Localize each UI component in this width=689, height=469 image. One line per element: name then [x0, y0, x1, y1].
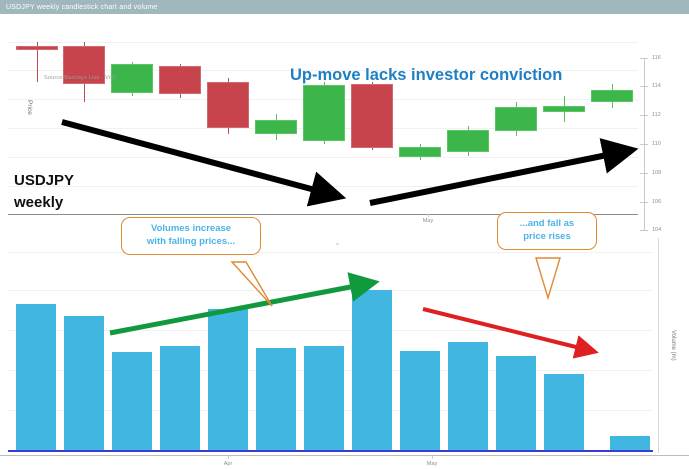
- volume-bar: [208, 309, 248, 452]
- price-gridline: [8, 157, 638, 158]
- candle-body: [495, 107, 537, 131]
- volume-chart-panel: Apr May: [0, 228, 689, 469]
- price-xlabel-may: May: [423, 218, 433, 224]
- price-tick-label: 110: [652, 141, 661, 147]
- candle-3: [111, 62, 153, 96]
- price-axis-tick: [640, 86, 648, 87]
- price-axis-tick: [640, 115, 648, 116]
- slide-headline: Up-move lacks investor conviction: [290, 66, 562, 85]
- volume-bar: [304, 346, 344, 452]
- volume-tiny-marker: =: [336, 242, 339, 248]
- pair-label-line2: weekly: [14, 192, 74, 214]
- volume-bar: [352, 290, 392, 452]
- callout-line2: price rises: [505, 231, 589, 244]
- volume-bar: [400, 351, 440, 452]
- candle-body: [111, 64, 153, 93]
- pair-label: USDJPY weekly: [14, 170, 74, 214]
- volume-gridline: [8, 290, 653, 291]
- candle-13: [591, 84, 633, 108]
- price-axis-tick: [640, 202, 648, 203]
- volume-xlabel-may: May: [427, 461, 437, 467]
- candle-body: [303, 85, 345, 141]
- volume-bar: [16, 304, 56, 452]
- volume-gridline: [8, 330, 653, 331]
- callout-line2: with falling prices...: [129, 236, 253, 249]
- price-xtick: [428, 214, 429, 217]
- candle-body: [351, 84, 393, 148]
- volume-axis-line: [0, 455, 689, 456]
- price-axis-tick: [640, 58, 648, 59]
- candle-body: [591, 90, 633, 102]
- candle-9: [399, 144, 441, 160]
- volume-xlabel-apr: Apr: [224, 461, 233, 467]
- callout-line1: Volumes increase: [129, 223, 253, 236]
- candle-8: [351, 82, 393, 150]
- candle-11: [495, 102, 537, 136]
- slide-canvas: Source:Barclays Live - VolT May 116 114 …: [0, 14, 689, 469]
- price-axis-title: Price: [26, 100, 33, 115]
- source-note: Source:Barclays Live - VolT: [44, 75, 117, 81]
- volume-bar: [112, 352, 152, 452]
- price-tick-label: 112: [652, 112, 661, 118]
- volume-bar: [256, 348, 296, 452]
- slide-headline-text: Up-move lacks investor conviction: [290, 66, 562, 84]
- price-chart-panel: Source:Barclays Live - VolT May 116 114 …: [0, 30, 689, 228]
- price-axis: 116 114 112 110 108 106 104: [640, 58, 689, 230]
- price-tick-label: 108: [652, 170, 661, 176]
- price-axis-tick: [640, 144, 648, 145]
- volume-bar: [448, 342, 488, 452]
- candle-7: [303, 82, 345, 144]
- candle-body: [399, 147, 441, 157]
- candle-5: [207, 78, 249, 134]
- price-gridline: [8, 186, 638, 187]
- volumes-increase-callout: Volumes increase with falling prices...: [121, 217, 261, 255]
- volume-gridline: [8, 252, 653, 253]
- candle-body: [16, 46, 58, 50]
- window-titlebar: USDJPY weekly candlestick chart and volu…: [0, 0, 689, 14]
- volume-axis-vline: [658, 238, 659, 453]
- volume-bar: [496, 356, 536, 452]
- candle-body: [543, 106, 585, 112]
- volume-xtick: [228, 456, 229, 459]
- candle-4: [159, 64, 201, 98]
- candle-2: [63, 42, 105, 102]
- candle-body: [255, 120, 297, 134]
- candle-10: [447, 126, 489, 156]
- price-tick-label: 106: [652, 199, 661, 205]
- volume-bar: [160, 346, 200, 452]
- volume-axis-title: Volume (m): [670, 330, 676, 361]
- candle-body: [159, 66, 201, 94]
- volumes-fall-callout: ...and fall as price rises: [497, 212, 597, 250]
- candle-body: [447, 130, 489, 152]
- callout-line1: ...and fall as: [505, 218, 589, 231]
- window-title: USDJPY weekly candlestick chart and volu…: [0, 4, 157, 11]
- candle-body: [207, 82, 249, 128]
- volume-bar: [544, 374, 584, 452]
- pair-label-line1: USDJPY: [14, 170, 74, 192]
- candle-12: [543, 96, 585, 122]
- volume-xtick: [432, 456, 433, 459]
- price-tick-label: 116: [652, 55, 661, 61]
- volume-bar: [64, 316, 104, 452]
- volume-baseline: [8, 450, 653, 452]
- price-axis-tick: [640, 173, 648, 174]
- volume-plot-area: [8, 234, 653, 452]
- price-tick-label: 114: [652, 83, 661, 89]
- candle-6: [255, 114, 297, 140]
